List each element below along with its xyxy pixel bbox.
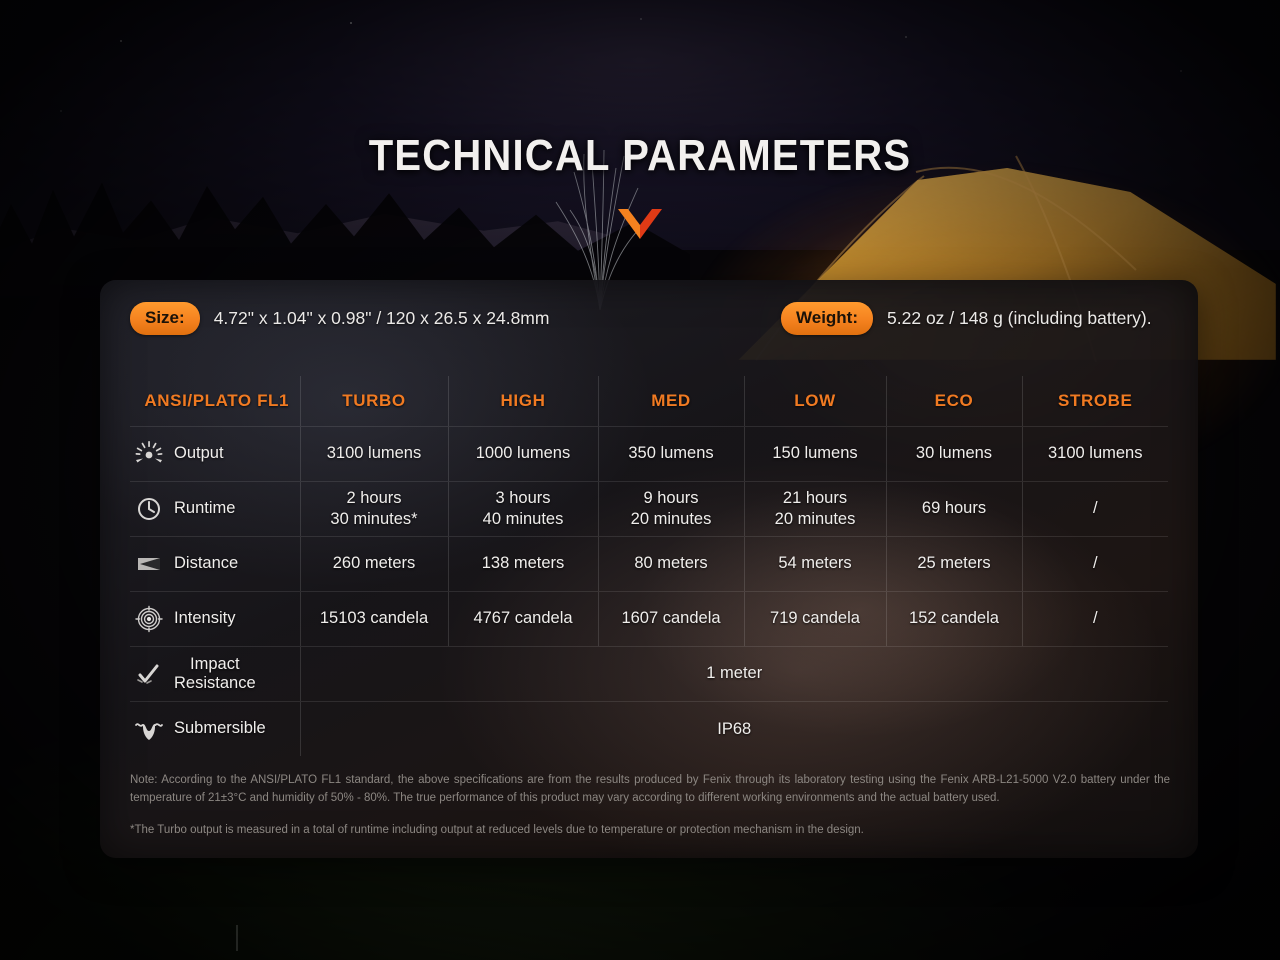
table-row: Submersible IP68 (130, 701, 1168, 756)
cell-output-med: 350 lumens (598, 426, 744, 481)
table-header-row: ANSI/PLATO FL1 TURBO HIGH MED LOW ECO ST… (130, 376, 1168, 426)
weight-item: Weight: 5.22 oz / 148 g (including batte… (781, 302, 1152, 335)
specifications-table: ANSI/PLATO FL1 TURBO HIGH MED LOW ECO ST… (130, 376, 1168, 756)
row-label-text: Submersible (174, 719, 266, 738)
sunburst-icon (134, 440, 164, 468)
cell-output-eco: 30 lumens (886, 426, 1022, 481)
table-row: Distance 260 meters 138 meters 80 meters… (130, 536, 1168, 591)
row-label-output: Output (130, 426, 300, 481)
table-row: Intensity 15103 candela 4767 candela 160… (130, 591, 1168, 646)
beam-icon (134, 550, 164, 578)
row-label-text: Impact Resistance (174, 655, 256, 693)
header-strobe: STROBE (1022, 376, 1168, 426)
cell-intensity-high: 4767 candela (448, 591, 598, 646)
chevron-down-icon (618, 207, 662, 239)
row-label-text: Runtime (174, 499, 235, 518)
cell-distance-med: 80 meters (598, 536, 744, 591)
cell-distance-low: 54 meters (744, 536, 886, 591)
table-row: Runtime 2 hours 30 minutes* 3 hours 40 m… (130, 481, 1168, 536)
row-label-text: Output (174, 444, 224, 463)
cell-runtime-eco: 69 hours (886, 481, 1022, 536)
page-title-container: TECHNICAL PARAMETERS (0, 134, 1280, 179)
cell-intensity-low: 719 candela (744, 591, 886, 646)
row-label-distance: Distance (130, 536, 300, 591)
impact-check-icon (134, 660, 164, 688)
header-med: MED (598, 376, 744, 426)
cell-intensity-turbo: 15103 candela (300, 591, 448, 646)
cell-intensity-eco: 152 candela (886, 591, 1022, 646)
cell-impact-resistance-value: 1 meter (300, 646, 1168, 701)
table-row: Impact Resistance 1 meter (130, 646, 1168, 701)
cell-distance-strobe: / (1022, 536, 1168, 591)
note-sub: *The Turbo output is measured in a total… (130, 822, 1170, 840)
page-title: TECHNICAL PARAMETERS (369, 132, 912, 181)
cell-runtime-low: 21 hours 20 minutes (744, 481, 886, 536)
size-value: 4.72" x 1.04" x 0.98" / 120 x 26.5 x 24.… (214, 308, 550, 329)
cell-output-strobe: 3100 lumens (1022, 426, 1168, 481)
row-label-text: Intensity (174, 609, 235, 628)
size-item: Size: 4.72" x 1.04" x 0.98" / 120 x 26.5… (130, 302, 549, 335)
cell-output-turbo: 3100 lumens (300, 426, 448, 481)
row-label-impact-resistance: Impact Resistance (130, 646, 300, 701)
size-label: Size: (130, 302, 200, 335)
cell-distance-eco: 25 meters (886, 536, 1022, 591)
note-main: Note: According to the ANSI/PLATO FL1 st… (130, 772, 1170, 808)
cell-runtime-high: 3 hours 40 minutes (448, 481, 598, 536)
cell-output-high: 1000 lumens (448, 426, 598, 481)
cell-intensity-med: 1607 candela (598, 591, 744, 646)
row-label-text: Distance (174, 554, 238, 573)
summary-row: Size: 4.72" x 1.04" x 0.98" / 120 x 26.5… (100, 302, 1198, 354)
header-high: HIGH (448, 376, 598, 426)
cell-distance-high: 138 meters (448, 536, 598, 591)
target-icon (134, 605, 164, 633)
cell-runtime-med: 9 hours 20 minutes (598, 481, 744, 536)
notes-section: Note: According to the ANSI/PLATO FL1 st… (130, 772, 1170, 839)
row-label-submersible: Submersible (130, 701, 300, 756)
cell-runtime-turbo: 2 hours 30 minutes* (300, 481, 448, 536)
foreground-mark (236, 925, 238, 951)
cell-distance-turbo: 260 meters (300, 536, 448, 591)
cell-output-low: 150 lumens (744, 426, 886, 481)
cell-intensity-strobe: / (1022, 591, 1168, 646)
specs-panel: Size: 4.72" x 1.04" x 0.98" / 120 x 26.5… (100, 280, 1198, 858)
cell-runtime-strobe: / (1022, 481, 1168, 536)
water-drop-icon (134, 715, 164, 743)
weight-label: Weight: (781, 302, 873, 335)
row-label-intensity: Intensity (130, 591, 300, 646)
header-ansi: ANSI/PLATO FL1 (130, 376, 300, 426)
weight-value: 5.22 oz / 148 g (including battery). (887, 308, 1152, 329)
header-turbo: TURBO (300, 376, 448, 426)
cell-submersible-value: IP68 (300, 701, 1168, 756)
row-label-runtime: Runtime (130, 481, 300, 536)
header-eco: ECO (886, 376, 1022, 426)
clock-icon (134, 495, 164, 523)
table-row: Output 3100 lumens 1000 lumens 350 lumen… (130, 426, 1168, 481)
header-low: LOW (744, 376, 886, 426)
